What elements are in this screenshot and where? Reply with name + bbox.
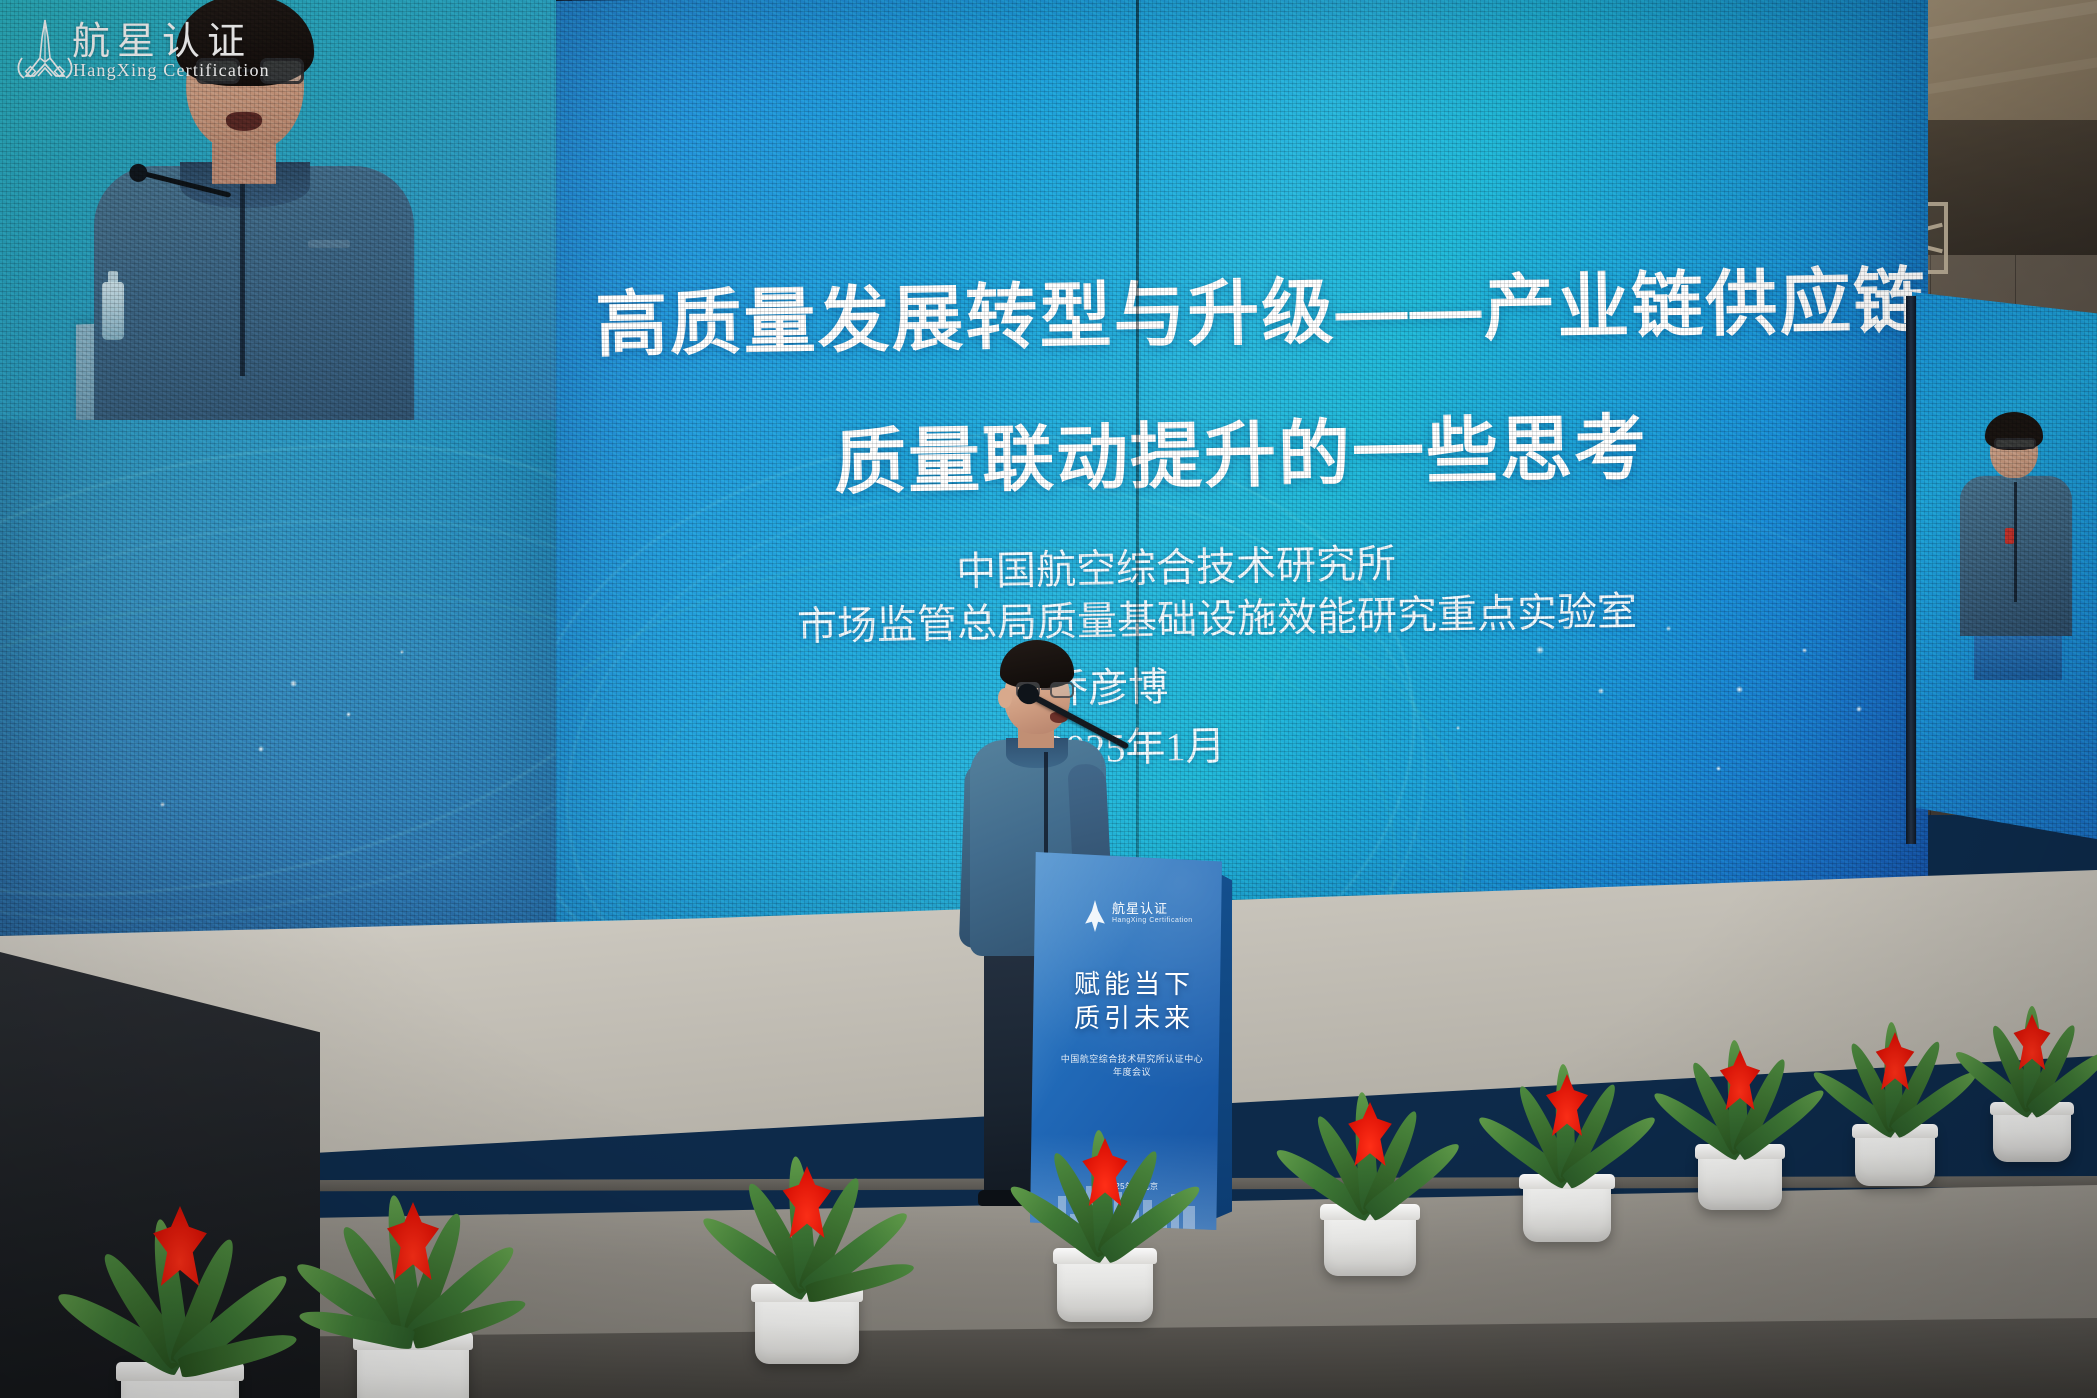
right-screen-video-feed bbox=[1912, 292, 2097, 840]
podium-slogan: 赋能当下 质引未来 bbox=[1074, 968, 1194, 1036]
watermark: 航星认证 HangXing Certification bbox=[14, 14, 244, 90]
stage-plant bbox=[30, 1230, 330, 1398]
podium-logo: 航星认证 HangXing Certification bbox=[1082, 896, 1178, 936]
rocket-tower-logo-icon bbox=[14, 18, 76, 84]
main-led-screen: 高质量发展转型与升级——产业链供应链 质量联动提升的一些思考 中国航空综合技术研… bbox=[556, 0, 1928, 924]
watermark-chinese: 航星认证 bbox=[72, 10, 252, 65]
slide-credit-laboratory: 市场监管总局质量基础设施效能研究重点实验室 bbox=[796, 579, 1637, 652]
stage-plant bbox=[980, 1100, 1230, 1310]
screen-support-leg bbox=[1906, 296, 1916, 844]
slide-title-line-2: 质量联动提升的一些思考 bbox=[833, 389, 1649, 509]
podium-logo-chinese: 航星认证 bbox=[1112, 898, 1168, 917]
feed-eyeglasses-icon-right bbox=[1994, 438, 2036, 449]
watermark-english: HangXing Certification bbox=[73, 60, 270, 81]
feed-water-bottle bbox=[102, 282, 124, 340]
presentation-slide: 高质量发展转型与升级——产业链供应链 质量联动提升的一些思考 中国航空综合技术研… bbox=[556, 0, 1928, 924]
stage-photograph: 高质量发展转型与升级——产业链供应链 质量联动提升的一些思考 中国航空综合技术研… bbox=[0, 0, 2097, 1398]
podium-logo-english: HangXing Certification bbox=[1112, 917, 1193, 924]
plant-pot bbox=[1057, 1248, 1153, 1322]
podium-slogan-line-2: 质引未来 bbox=[1074, 1002, 1194, 1036]
slide-title-line-1: 高质量发展转型与升级——产业链供应链 bbox=[594, 241, 1928, 370]
stage-plant bbox=[1932, 980, 2097, 1156]
plant-pot bbox=[1523, 1174, 1611, 1242]
left-led-screen bbox=[0, 0, 566, 940]
rocket-tower-logo-icon bbox=[1082, 900, 1108, 932]
podium-subtitle: 中国航空综合技术研究所认证中心年度会议 bbox=[1058, 1052, 1206, 1078]
stage-plant bbox=[672, 1130, 942, 1350]
right-led-screen bbox=[1912, 292, 2097, 840]
podium-slogan-line-1: 赋能当下 bbox=[1074, 968, 1194, 1002]
